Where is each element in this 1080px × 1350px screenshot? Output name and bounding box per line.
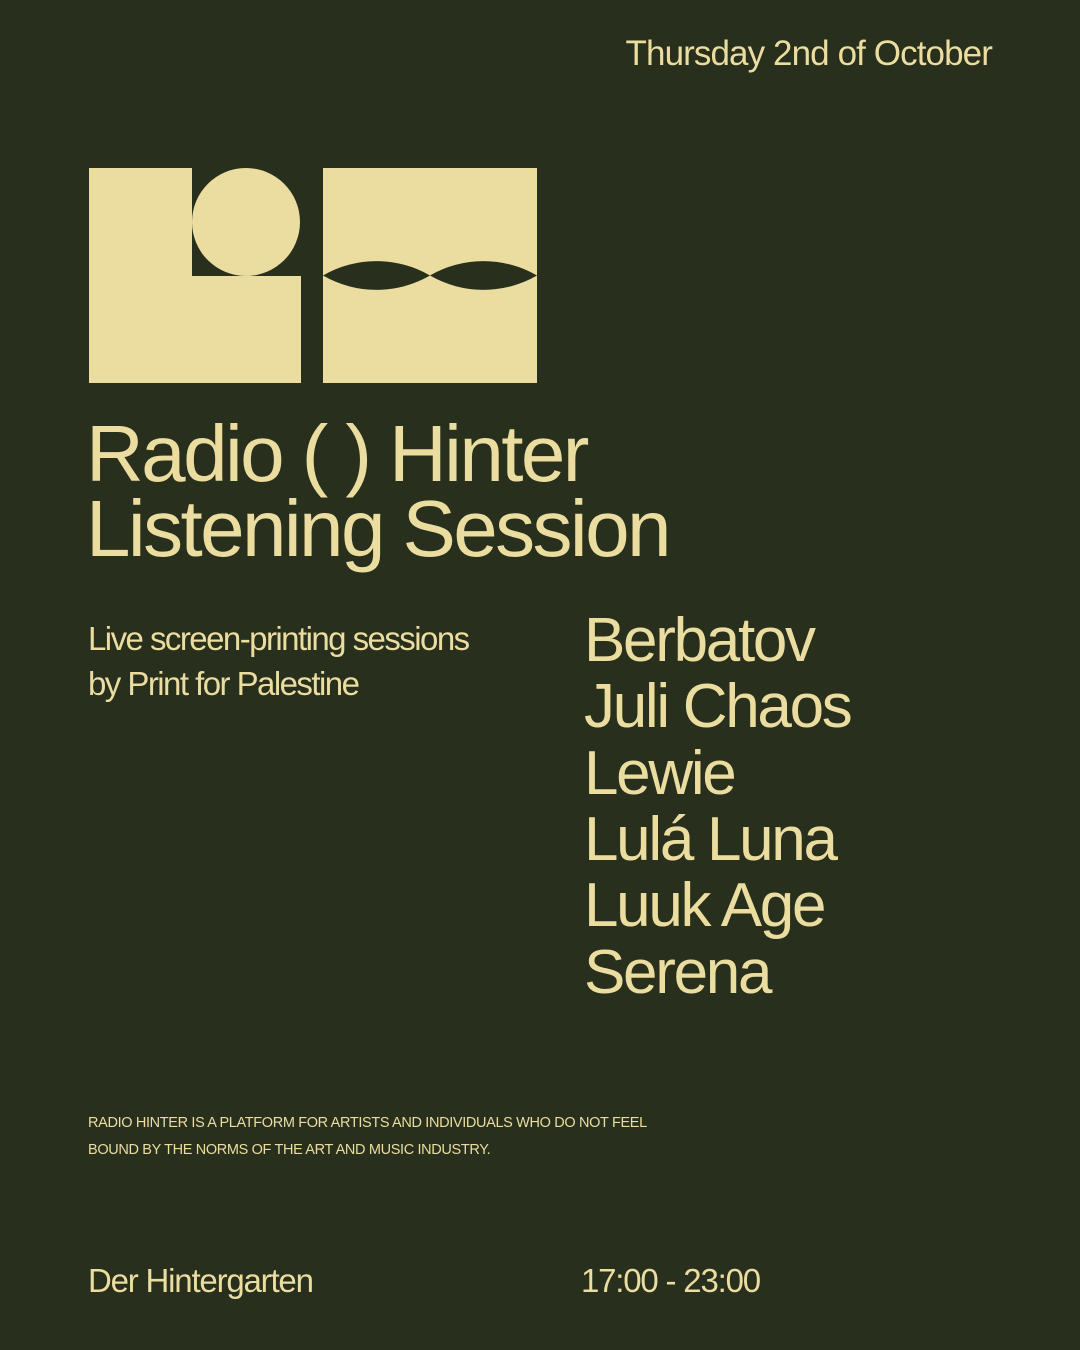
print-note-line-1: Live screen-printing sessions [88,617,469,662]
event-times: 17:00 - 23:00 [581,1262,760,1300]
logo-letter-r [89,168,301,383]
lineup-artist: Lulá Luna [584,807,850,873]
radio-hinter-logo [89,168,537,383]
artist-lineup: Berbatov Juli Chaos Lewie Lulá Luna Luuk… [584,608,850,1006]
headline-line-2: Listening Session [86,491,669,566]
venue-name: Der Hintergarten [88,1262,313,1300]
screen-printing-note: Live screen-printing sessions by Print f… [88,617,469,707]
lineup-artist: Berbatov [584,608,850,674]
mission-line-2: BOUND BY THE NORMS OF THE ART AND MUSIC … [88,1137,647,1164]
poster-canvas: Thursday 2nd of October [0,0,1080,1350]
mission-statement: RADIO HINTER IS A PLATFORM FOR ARTISTS A… [88,1110,647,1164]
headline-line-1: Radio ( ) Hinter [86,416,669,491]
lineup-artist: Serena [584,940,850,1006]
print-note-line-2: by Print for Palestine [88,662,469,707]
lineup-artist: Juli Chaos [584,674,850,740]
event-date: Thursday 2nd of October [626,34,992,74]
page-title: Radio ( ) Hinter Listening Session [86,416,669,566]
lineup-artist: Lewie [584,741,850,807]
mission-line-1: RADIO HINTER IS A PLATFORM FOR ARTISTS A… [88,1110,647,1137]
lineup-artist: Luuk Age [584,873,850,939]
